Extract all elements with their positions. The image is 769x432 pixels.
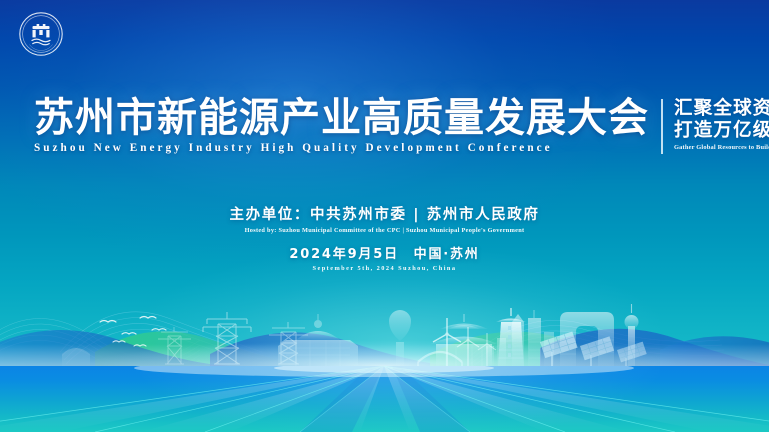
slogan-block: 汇聚全球资源 打造万亿级新能源产业 Gather Global Resource… [674,97,769,151]
host-english: Hosted by: Suzhou Municipal Committee of… [0,227,769,234]
suzhou-emblem-logo[interactable] [18,11,64,57]
emblem-icon [18,11,64,57]
slogan-line-1: 汇聚全球资源 [674,98,769,120]
host-block: 主办单位：中共苏州市委 | 苏州市人民政府 Hosted by: Suzhou … [0,203,769,234]
date-english: September 5th, 2024 Suzhou, China [0,265,769,272]
hill-far-right [660,336,769,366]
center-glow [140,250,660,432]
host-chinese: 主办单位：中共苏州市委 | 苏州市人民政府 [0,203,769,224]
date-chinese: 2024年9月5日 中国·苏州 [0,243,769,262]
main-title: 苏州市新能源产业高质量发展大会 Suzhou New Energy Indust… [34,97,649,154]
date-block: 2024年9月5日 中国·苏州 September 5th, 2024 Suzh… [0,243,769,272]
title-english: Suzhou New Energy Industry High Quality … [34,142,649,154]
title-chinese: 苏州市新能源产业高质量发展大会 [34,97,649,139]
slogan-line-2: 打造万亿级新能源产业 [674,120,769,142]
title-divider [661,99,663,154]
conference-banner: 苏州市新能源产业高质量发展大会 Suzhou New Energy Indust… [0,0,769,432]
title-block: 苏州市新能源产业高质量发展大会 Suzhou New Energy Indust… [34,97,769,154]
dome-building [62,348,90,366]
slogan-english: Gather Global Resources to Build a Trill… [674,144,769,151]
